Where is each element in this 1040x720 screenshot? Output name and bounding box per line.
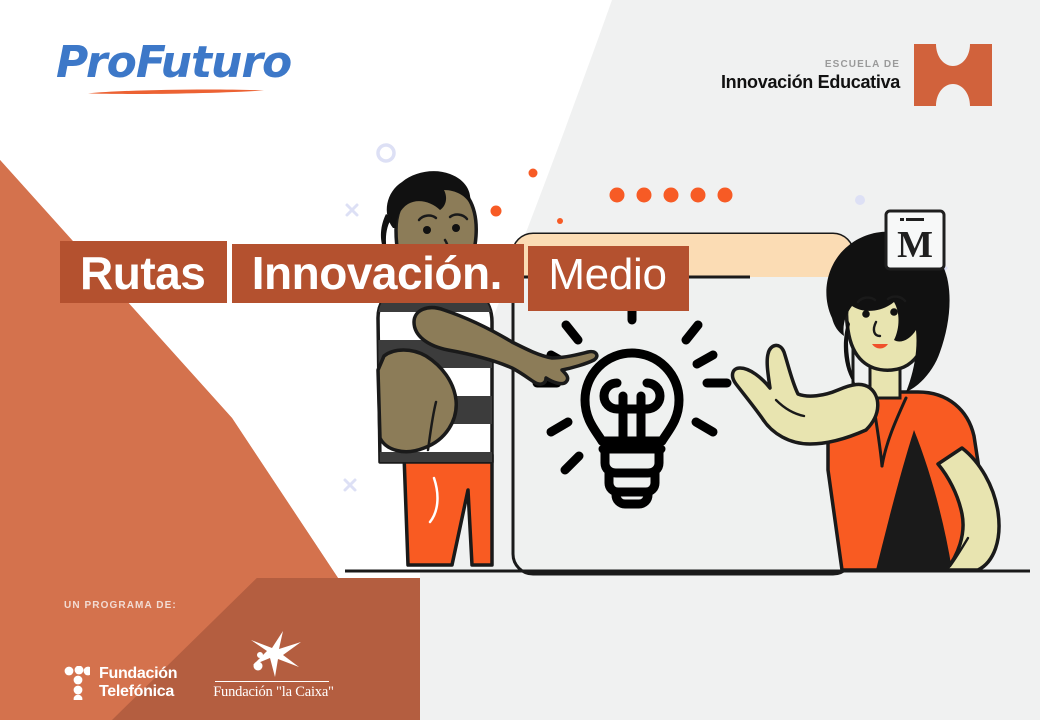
orange-x-mark-icon [914,44,992,106]
small-x-icon-2 [345,480,355,490]
page-title: Rutas Innovación. Medio [60,241,689,311]
sponsors-kicker: UN PROGRAMA DE: [64,600,364,611]
m-badge-dot [900,218,904,221]
lacaixa-rule [215,681,329,682]
lacaixa-star-icon [227,629,317,679]
m-badge-bar [906,218,924,221]
m-badge-letter: M [897,224,933,266]
telefonica-name-line-2: Telefónica [99,683,177,701]
fundacion-telefonica-logo[interactable]: Fundación Telefónica [64,665,177,701]
dot-row-item [718,188,733,203]
small-x-icon [347,205,357,215]
left-figure-pants [404,455,492,565]
m-monogram-badge-icon: M [884,209,946,271]
dot-row-item [664,188,679,203]
escuela-innovacion-logo[interactable]: ESCUELA DE Innovación Educativa [721,44,992,106]
right-figure-eye-left [862,310,870,318]
escuela-logo-text: ESCUELA DE Innovación Educativa [721,58,900,93]
dot-accent-orange-3 [557,218,563,224]
telefonica-name: Fundación Telefónica [99,665,177,701]
slide-canvas: ProFuturo ESCUELA DE Innovación Educativ… [0,0,1040,720]
lacaixa-name: Fundación "la Caixa" [213,684,331,701]
title-line-innovacion: Innovación. [232,244,524,303]
dot-row-item [637,188,652,203]
profuturo-wordmark: ProFuturo [56,38,286,88]
profuturo-logo[interactable]: ProFuturo [56,38,286,104]
escuela-kicker: ESCUELA DE [721,58,900,71]
sponsors-block: UN PROGRAMA DE: Fundación Telefónica [64,600,364,701]
sponsor-logo-row: Fundación Telefónica Fundación "la Caixa… [64,629,364,701]
escuela-name: Innovación Educativa [721,71,900,93]
orange-swoosh-underline-icon [86,88,266,95]
dot-accent-orange-1 [529,169,538,178]
dot-row-item [691,188,706,203]
fundacion-lacaixa-logo[interactable]: Fundación "la Caixa" [213,629,331,701]
right-figure-eye-right [890,308,898,316]
circle-outline-icon [378,145,394,161]
telefonica-name-line-1: Fundación [99,665,177,683]
dot-accent-lavender-2 [855,195,865,205]
title-line-rutas: Rutas [60,241,227,303]
dot-row-item [610,188,625,203]
title-line-medio: Medio [528,246,688,311]
telefonica-dots-t-icon [64,666,90,700]
dot-accent-orange-2 [491,206,502,217]
left-figure-eye-left [423,226,431,234]
left-figure-eye-right [452,224,460,232]
dot-row [610,188,733,203]
